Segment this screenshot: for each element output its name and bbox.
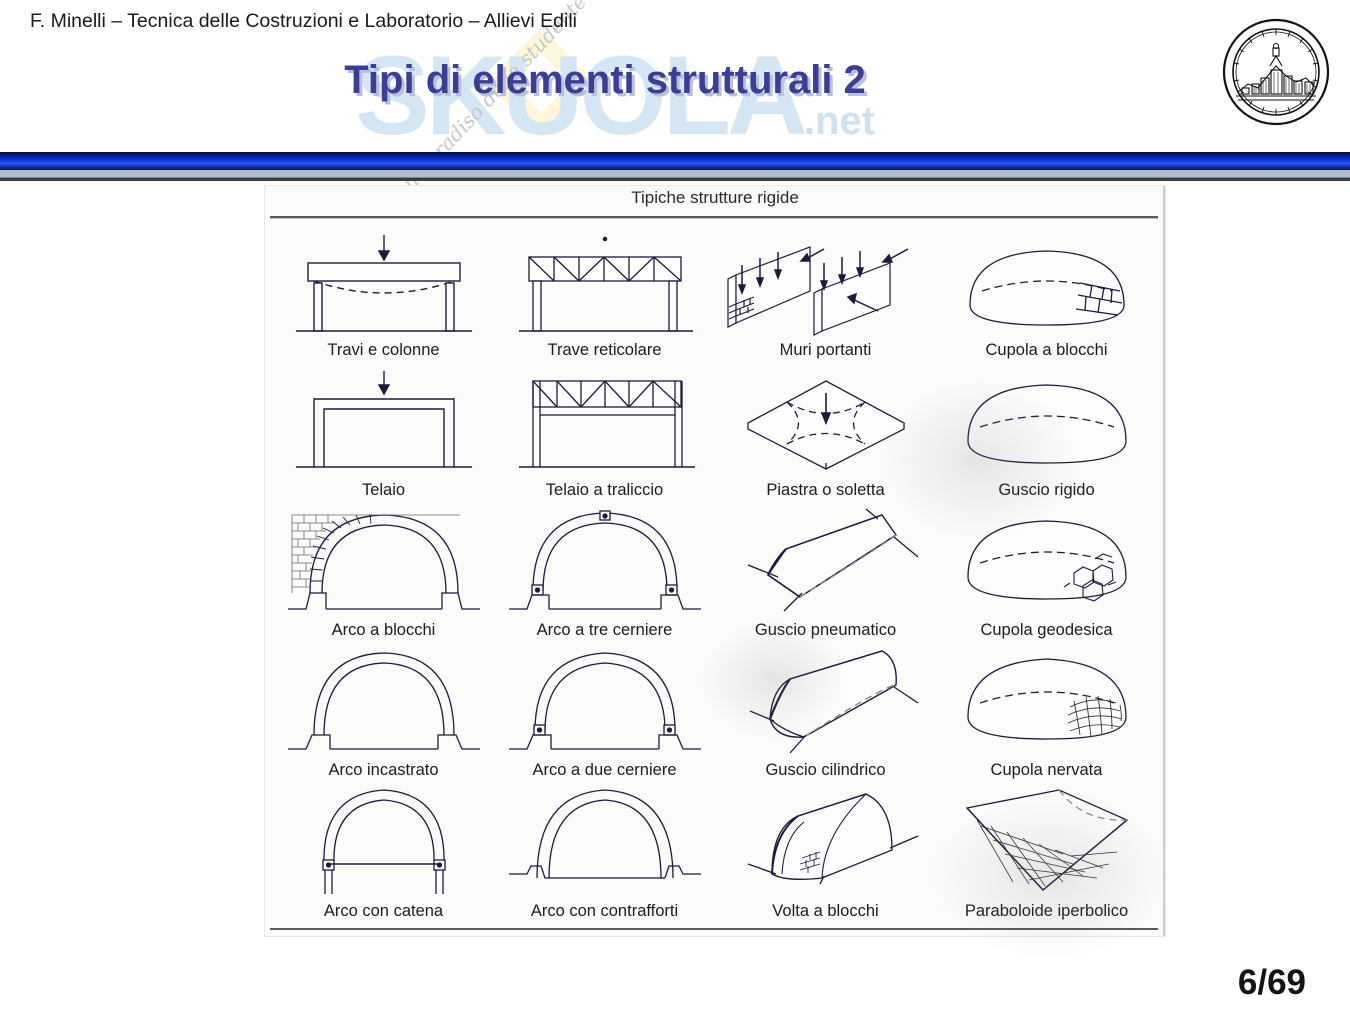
slide-author-line: F. Minelli – Tecnica delle Costruzioni e…: [30, 10, 577, 33]
rigid-frame-diagram: [284, 367, 484, 479]
figure-cell: Cupola nervata: [936, 641, 1157, 781]
figure-cell-label: Guscio pneumatico: [755, 622, 896, 639]
figure-cell: Telaio a traliccio: [494, 362, 715, 502]
figure-cell: Arco con contrafforti: [494, 782, 715, 922]
figure-cell-label: Arco a blocchi: [332, 622, 436, 639]
figure-cell: Paraboloide iperbolico: [936, 782, 1157, 922]
hyperbolic-paraboloid-diagram: [947, 782, 1147, 900]
geodesic-dome-diagram: [952, 501, 1142, 619]
structural-types-figure: Tipiche strutture rigide Travi e colonne: [265, 186, 1165, 936]
divider: [0, 152, 1350, 181]
figure-right-edge: [1163, 186, 1165, 936]
block-arch-diagram: [284, 501, 484, 619]
figure-caption: Tipiche strutture rigide: [265, 188, 1165, 208]
figure-cell: Volta a blocchi: [715, 782, 936, 922]
figure-cell-label: Cupola geodesica: [980, 622, 1112, 639]
figure-cell: Arco a tre cerniere: [494, 501, 715, 641]
fixed-arch-diagram: [284, 641, 484, 759]
beam-and-columns-diagram: [284, 227, 484, 339]
rigid-shell-diagram: [952, 367, 1142, 479]
figure-cell: Muri portanti: [715, 222, 936, 362]
figure-top-rule-light: [270, 218, 1158, 219]
load-bearing-walls-diagram: [720, 227, 932, 339]
block-barrel-vault-diagram: [726, 782, 926, 900]
ribbed-dome-diagram: [952, 641, 1142, 759]
figure-cell-label: Arco con catena: [324, 903, 443, 920]
divider-grey-bar: [0, 170, 1350, 178]
page-number: 6/69: [1238, 963, 1306, 1003]
two-hinged-arch-diagram: [505, 641, 705, 759]
figure-cell: Guscio pneumatico: [715, 501, 936, 641]
figure-cell-label: Cupola a blocchi: [986, 342, 1108, 359]
figure-cell-label: Arco a due cerniere: [533, 762, 677, 779]
figure-cell-label: Telaio a traliccio: [546, 482, 663, 499]
figure-cell: Piastra o soletta: [715, 362, 936, 502]
figure-bottom-rule: [270, 928, 1158, 930]
block-dome-diagram: [952, 227, 1142, 339]
buttressed-arch-diagram: [505, 782, 705, 900]
figure-cell: Arco incastrato: [273, 641, 494, 781]
figure-cell: Telaio: [273, 362, 494, 502]
three-hinged-arch-diagram: [505, 501, 705, 619]
figure-cell: Cupola geodesica: [936, 501, 1157, 641]
figure-cell-label: Arco incastrato: [328, 762, 438, 779]
figure-cell: Guscio rigido: [936, 362, 1157, 502]
flat-slab-diagram: [726, 367, 926, 479]
figure-cell-label: Paraboloide iperbolico: [965, 903, 1128, 920]
pneumatic-shell-diagram: [726, 501, 926, 619]
figure-cell-label: Guscio cilindrico: [765, 762, 885, 779]
tied-arch-diagram: [284, 782, 484, 900]
structural-types-grid: Travi e colonne: [273, 222, 1157, 922]
figure-cell: Arco a blocchi: [273, 501, 494, 641]
figure-cell-label: Arco a tre cerniere: [537, 622, 673, 639]
figure-cell: Trave reticolare: [494, 222, 715, 362]
figure-cell-label: Cupola nervata: [991, 762, 1103, 779]
cylindrical-shell-diagram: [726, 641, 926, 759]
watermark-brand-suffix: .net: [804, 99, 875, 143]
figure-cell: Arco con catena: [273, 782, 494, 922]
figure-cell: Guscio cilindrico: [715, 641, 936, 781]
divider-blue-bar: [0, 152, 1350, 170]
figure-cell-label: Volta a blocchi: [772, 903, 878, 920]
figure-cell-label: Travi e colonne: [327, 342, 439, 359]
trussed-frame-diagram: [505, 367, 705, 479]
figure-cell-label: Muri portanti: [780, 342, 872, 359]
figure-cell: Cupola a blocchi: [936, 222, 1157, 362]
university-seal-icon: [1222, 18, 1330, 126]
figure-cell-label: Arco con contrafforti: [531, 903, 678, 920]
figure-cell-label: Guscio rigido: [998, 482, 1094, 499]
divider-shadow-bar: [0, 178, 1350, 181]
figure-cell: Arco a due cerniere: [494, 641, 715, 781]
figure-cell-label: Trave reticolare: [547, 342, 661, 359]
figure-cell-label: Telaio: [362, 482, 405, 499]
truss-beam-diagram: [505, 227, 705, 339]
page-title: Tipi di elementi strutturali 2: [0, 58, 1210, 103]
figure-cell-label: Piastra o soletta: [766, 482, 884, 499]
figure-cell: Travi e colonne: [273, 222, 494, 362]
